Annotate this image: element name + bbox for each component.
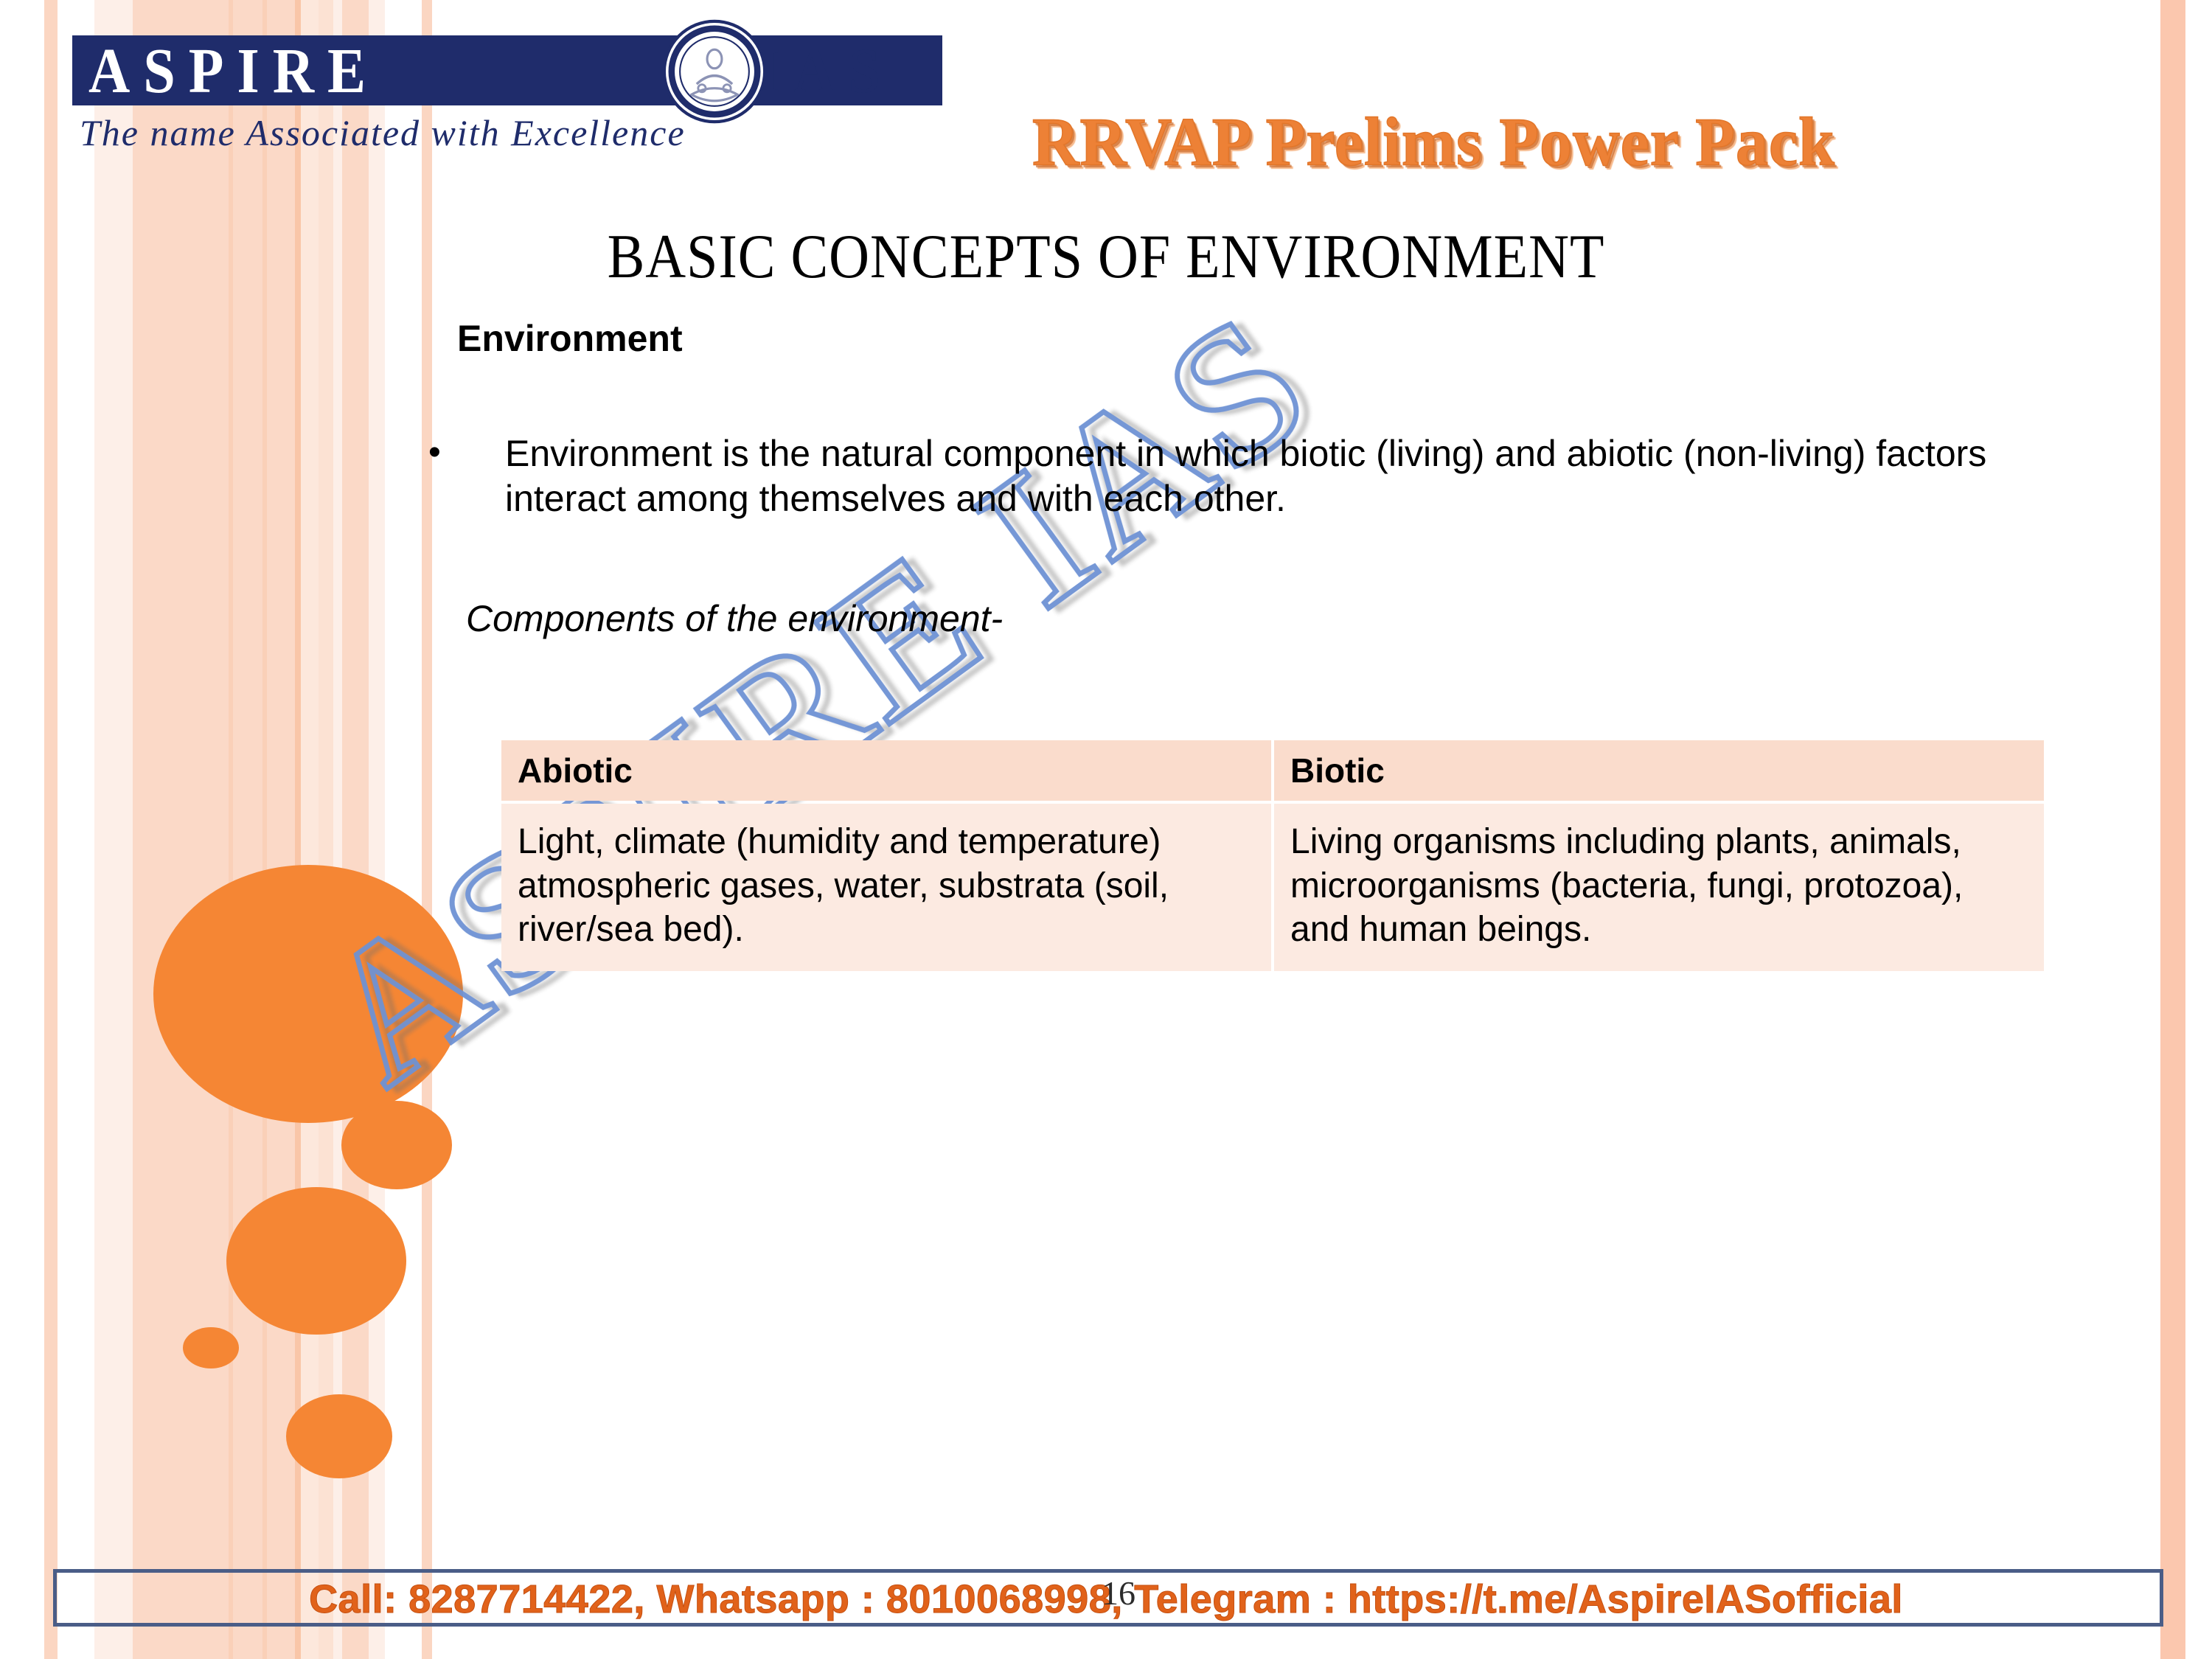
table-header-biotic: Biotic bbox=[1274, 740, 2044, 801]
meditating-figure-seal-icon bbox=[662, 19, 767, 124]
bullet-paragraph: Environment is the natural component in … bbox=[470, 431, 2083, 521]
table-cell-abiotic: Light, climate (humidity and temperature… bbox=[501, 804, 1271, 971]
components-label: Components of the environment- bbox=[466, 597, 1003, 640]
logo-tagline: The name Associated with Excellence bbox=[80, 111, 957, 154]
environment-components-table: Abiotic Biotic Light, climate (humidity … bbox=[498, 737, 2047, 974]
table-row: Light, climate (humidity and temperature… bbox=[501, 804, 2044, 971]
table-header-row: Abiotic Biotic bbox=[501, 740, 2044, 801]
page-number: 16 bbox=[1102, 1573, 1135, 1613]
logo-word-aspire: ASPIRE bbox=[88, 38, 379, 102]
power-pack-title: RRVAP Prelims Power Pack bbox=[1032, 103, 1835, 182]
bullet-list-item: • Environment is the natural component i… bbox=[424, 431, 2083, 521]
section-subheading: Environment bbox=[457, 317, 683, 360]
decorative-ellipse-1 bbox=[341, 1101, 452, 1189]
decorative-ellipse-2 bbox=[226, 1187, 406, 1335]
logo-word-ias: IAS bbox=[758, 38, 894, 102]
logo-navy-bar: ASPIRE IAS bbox=[72, 35, 942, 105]
bullet-marker-icon: • bbox=[424, 431, 470, 475]
slide-canvas: ASPIRE IAS ASPIRE IAS The name Associate… bbox=[0, 0, 2212, 1659]
table-cell-biotic: Living organisms including plants, anima… bbox=[1274, 804, 2044, 971]
decorative-ellipse-4 bbox=[286, 1394, 392, 1478]
page-title: BASIC CONCEPTS OF ENVIRONMENT bbox=[0, 221, 2212, 293]
aspire-ias-logo: ASPIRE IAS The name Associated with Exce… bbox=[72, 35, 957, 154]
decorative-ellipse-0 bbox=[153, 865, 463, 1123]
table-header-abiotic: Abiotic bbox=[501, 740, 1271, 801]
decorative-ellipse-3 bbox=[183, 1327, 239, 1368]
